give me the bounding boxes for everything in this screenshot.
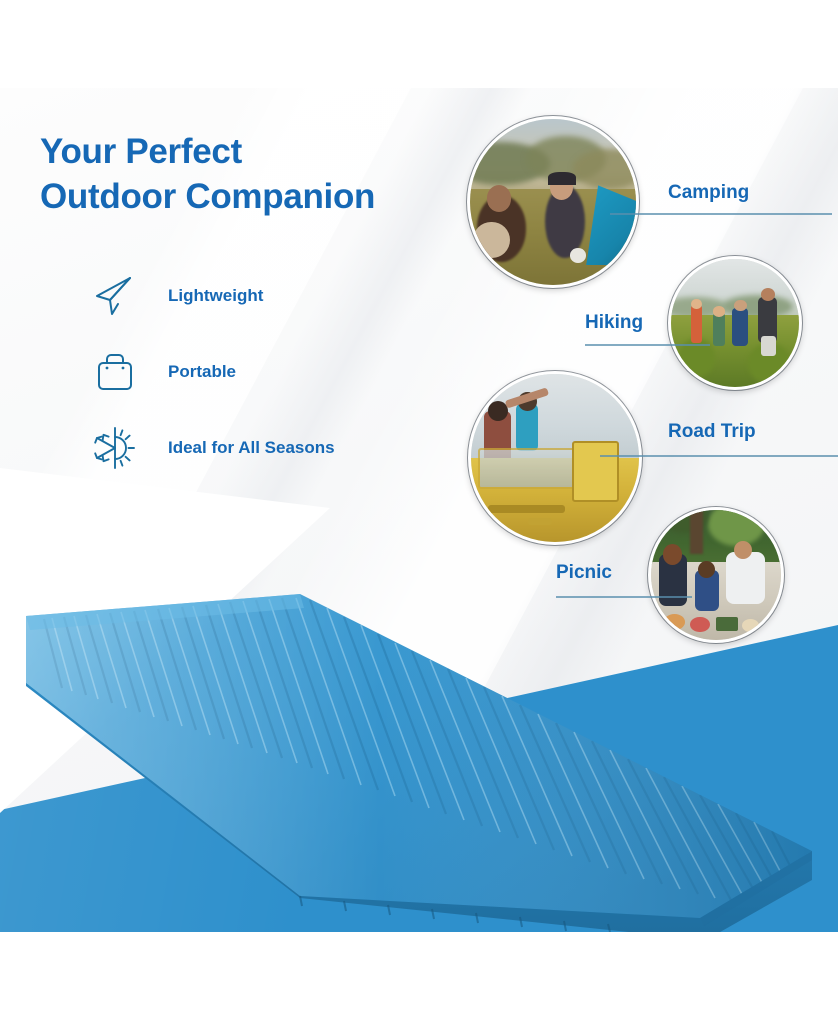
page-title: Your Perfect Outdoor Companion [40,130,375,220]
snowflake-sun-icon [88,421,142,475]
page-top-margin [0,0,838,88]
road-trip-connector-line [600,455,838,457]
feature-label: Portable [168,362,236,382]
feature-item-lightweight: Lightweight [88,258,418,334]
page-bottom-margin [0,932,838,1024]
hiking-label: Hiking [585,312,643,334]
paper-plane-icon [88,269,142,323]
headline-line-1: Your Perfect [40,132,242,171]
feature-label: Ideal for All Seasons [168,438,335,458]
pad-baffle-tubes [26,594,812,918]
handbag-icon [88,345,142,399]
feature-list: Lightweight Portable [88,258,418,486]
feature-item-all-seasons: Ideal for All Seasons [88,410,418,486]
feature-label: Lightweight [168,286,263,306]
road-trip-label: Road Trip [668,421,756,443]
hiking-photo[interactable] [668,256,802,390]
product-banner: Your Perfect Outdoor Companion Lightweig… [0,88,838,932]
camping-connector-line [610,213,832,215]
camping-label: Camping [668,182,749,204]
hiking-connector-line [585,344,710,346]
inflatable-sleeping-pad [0,488,838,932]
camping-photo[interactable] [467,116,639,288]
feature-item-portable: Portable [88,334,418,410]
headline-line-2: Outdoor Companion [40,175,375,220]
